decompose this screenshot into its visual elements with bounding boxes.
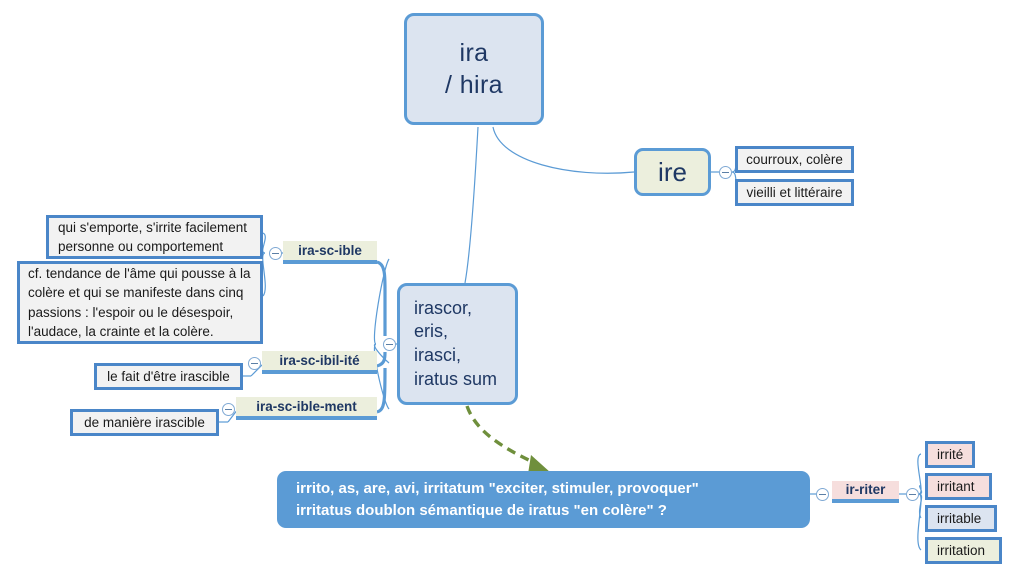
mini-irritation[interactable]: irritation	[925, 537, 1002, 564]
irascor-line-2: eris,	[414, 320, 515, 344]
irascor-line-4: iratus sum	[414, 368, 515, 392]
chip-ir-riter[interactable]: ir-riter	[832, 481, 899, 503]
gloss-irasciblement[interactable]: de manière irascible	[70, 409, 219, 436]
collapse-toggle-ir-riter[interactable]	[906, 488, 919, 501]
collapse-toggle-irascor[interactable]	[383, 338, 396, 351]
gloss-irascible-1[interactable]: qui s'emporte, s'irrite facilement perso…	[46, 215, 263, 259]
irascor-line-1: irascor,	[414, 297, 515, 321]
chip-ira-sc-ible-label: ira-sc-ible	[298, 243, 362, 258]
latin-note-line-2: irritatus doublon sémantique de iratus "…	[296, 500, 810, 522]
ire-gloss-1-label: courroux, colère	[738, 150, 851, 169]
gloss-irascible-2-line-4: l'audace, la crainte et la colère.	[28, 322, 260, 341]
collapse-toggle-ira-sc-ibil-ite[interactable]	[248, 357, 261, 370]
ire-gloss-1[interactable]: courroux, colère	[735, 146, 854, 173]
chip-ira-sc-ible-ment[interactable]: ira-sc-ible-ment	[236, 397, 377, 420]
collapse-toggle-ira-sc-ible-ment[interactable]	[222, 403, 235, 416]
node-irascor[interactable]: irascor, eris, irasci, iratus sum	[397, 283, 518, 405]
latin-note-box[interactable]: irrito, as, are, avi, irritatum "exciter…	[277, 471, 810, 528]
collapse-toggle-ira-sc-ible[interactable]	[269, 247, 282, 260]
node-ire-label: ire	[658, 157, 687, 188]
gloss-irascible-2-line-1: cf. tendance de l'âme qui pousse à la	[28, 264, 260, 283]
mini-irritable-label: irritable	[937, 511, 981, 526]
irascor-line-3: irasci,	[414, 344, 515, 368]
mindmap-canvas: ira / hira ire courroux, colère vieilli …	[0, 0, 1017, 581]
mini-irrite[interactable]: irrité	[925, 441, 975, 468]
root-line-1: ira	[445, 37, 503, 70]
root-line-2: / hira	[445, 69, 503, 102]
gloss-irascible-2[interactable]: cf. tendance de l'âme qui pousse à la co…	[17, 261, 263, 344]
chip-ira-sc-ibil-ite[interactable]: ira-sc-ibil-ité	[262, 351, 377, 374]
latin-note-line-1: irrito, as, are, avi, irritatum "exciter…	[296, 478, 810, 500]
mini-irrite-label: irrité	[937, 447, 963, 462]
mini-irritable[interactable]: irritable	[925, 505, 997, 532]
mini-irritant-label: irritant	[937, 479, 975, 494]
gloss-irasciblement-label: de manière irascible	[73, 413, 216, 432]
chip-ir-riter-label: ir-riter	[846, 482, 886, 497]
gloss-irascible-1-line-2: personne ou comportement	[58, 237, 260, 256]
ire-gloss-2-label: vieilli et littéraire	[738, 183, 851, 202]
chip-ira-sc-ible-ment-label: ira-sc-ible-ment	[256, 399, 357, 414]
gloss-irascible-2-line-3: passions : l'espoir ou le désespoir,	[28, 303, 260, 322]
mini-irritation-label: irritation	[937, 543, 985, 558]
collapse-toggle-latin-note[interactable]	[816, 488, 829, 501]
node-ire[interactable]: ire	[634, 148, 711, 196]
root-node[interactable]: ira / hira	[404, 13, 544, 125]
gloss-irascible-1-line-1: qui s'emporte, s'irrite facilement	[58, 218, 260, 237]
gloss-irascible-2-line-2: colère et qui se manifeste dans cinq	[28, 283, 260, 302]
gloss-irascibilite-label: le fait d'être irascible	[97, 367, 240, 386]
collapse-toggle-ire[interactable]	[719, 166, 732, 179]
chip-ira-sc-ibil-ite-label: ira-sc-ibil-ité	[279, 353, 359, 368]
ire-gloss-2[interactable]: vieilli et littéraire	[735, 179, 854, 206]
chip-ira-sc-ible[interactable]: ira-sc-ible	[283, 241, 377, 264]
gloss-irascibilite[interactable]: le fait d'être irascible	[94, 363, 243, 390]
mini-irritant[interactable]: irritant	[925, 473, 992, 500]
